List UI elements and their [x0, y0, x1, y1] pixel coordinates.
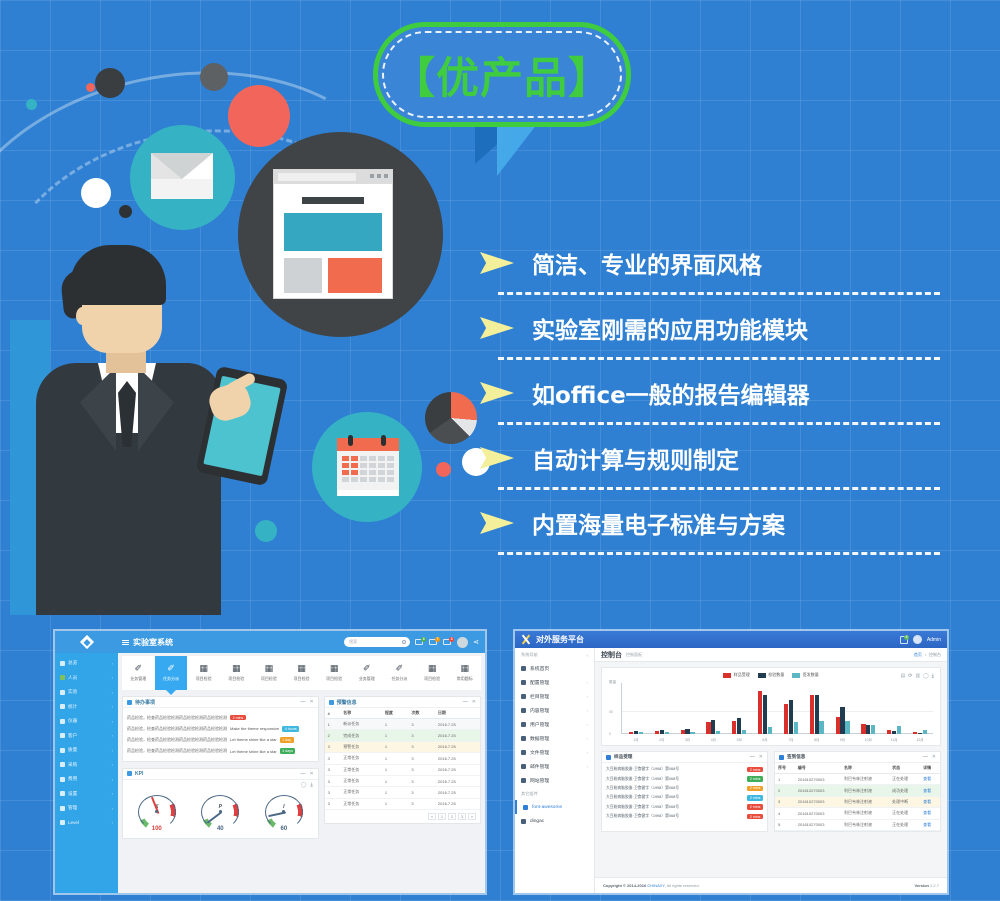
columns-icon	[521, 694, 526, 699]
lab-sidebar: 总览› 人员› 实验› 统计› 仪器› 客户› 质量› 采购› 费用› 设置› …	[55, 653, 118, 893]
detail-link[interactable]: 查看	[920, 819, 940, 830]
lab-topbar-right: 搜索 4 7 3 ⋖	[344, 637, 485, 648]
bar[interactable]	[892, 731, 896, 734]
minus-icon[interactable]: —	[463, 699, 468, 705]
sample-row[interactable]: 大豆粉病脑胶囊·卫食健字（1998）第068号2 mins	[606, 774, 763, 783]
col-name: 名称	[841, 763, 889, 774]
sidebar-item-overview[interactable]: 总览›	[55, 656, 118, 671]
sidebar-item-label: font-awesome	[532, 805, 562, 810]
service-topbar-right: 4 Admin	[900, 635, 941, 644]
bar[interactable]	[629, 732, 633, 734]
kpi-card: KPI —✕ ◯⤓ K	[122, 768, 319, 839]
refresh-icon[interactable]: ⟳	[908, 673, 912, 679]
bar[interactable]	[923, 730, 927, 734]
minus-icon[interactable]: —	[923, 754, 928, 760]
bar[interactable]	[685, 729, 689, 734]
todo-note: Make the theme responsive	[230, 726, 279, 731]
sidebar-item-staff[interactable]: 人员›	[55, 671, 118, 686]
detail-link[interactable]: 查看	[920, 785, 940, 796]
bar-icon[interactable]: ▥	[915, 673, 920, 679]
sidebar-item-columns[interactable]: 栏目管理›	[515, 689, 594, 703]
bar-group	[700, 683, 726, 734]
bar[interactable]	[737, 718, 741, 734]
lab-app: 实验室系统 搜索 4 7 3 ⋖	[55, 631, 485, 893]
feature-label: 内置海量电子标准与方案	[532, 506, 785, 540]
bar[interactable]	[845, 721, 849, 734]
avatar[interactable]	[913, 635, 922, 644]
sample-row[interactable]: 大豆粉病脑胶囊·卫食健字（1998）第068号2 mins	[606, 765, 763, 774]
bell-icon[interactable]: 3	[443, 638, 452, 647]
sidebar-item-label: 配置管理	[530, 679, 549, 686]
bar-group	[855, 683, 881, 734]
close-icon[interactable]: ✕	[309, 771, 313, 777]
download-icon[interactable]: ⤓	[932, 673, 934, 679]
browser-heading-block	[302, 197, 364, 204]
legend-item[interactable]: 检验数量	[758, 672, 785, 678]
x-tick-label: 5月	[726, 737, 752, 742]
decor-dot-dark	[119, 205, 132, 218]
col-detail: 详情	[920, 763, 940, 774]
calendar-grid	[337, 451, 399, 487]
table-row[interactable]: 1新派任务132016.7.25	[325, 719, 480, 730]
sidebar-item-cost[interactable]: 费用›	[55, 772, 118, 787]
edit-icon: ✐	[167, 664, 175, 673]
table-row[interactable]: 3正常任务132016.7.25	[325, 753, 480, 764]
flag-icon[interactable]: 4	[900, 636, 908, 644]
screenshot-service-platform: 对外服务平台 4 Admin 系统导航 ‹ 系统首页 配置管理›	[515, 631, 947, 893]
grid-icon: ▦	[297, 664, 306, 673]
calendar-icon	[337, 438, 399, 496]
sample-row[interactable]: 大豆粉病脑胶囊·卫食健字（1998）第068号2 mins	[606, 793, 763, 802]
sidebar-item-website[interactable]: 网站管理	[515, 773, 594, 787]
bar-group	[675, 683, 701, 734]
page-next[interactable]: »	[468, 813, 476, 820]
sidebar-item-experiment[interactable]: 实验›	[55, 685, 118, 700]
legend-item[interactable]: 签发数量	[792, 672, 819, 678]
bar[interactable]	[897, 726, 901, 734]
detail-link[interactable]: 查看	[920, 796, 940, 807]
quick-action-label: 业务管理	[359, 676, 375, 682]
screenshot-row: 实验室系统 搜索 4 7 3 ⋖	[0, 615, 1000, 901]
service-body: 系统导航 ‹ 系统首页 配置管理› 栏目管理› 内容管理› 用户管理› 数据管理…	[515, 648, 947, 893]
sample-card-body: 大豆粉病脑胶囊·卫食健字（1998）第068号2 mins 大豆粉病脑胶囊·卫食…	[602, 763, 767, 824]
breadcrumb-trail: 首页 / 控制台	[914, 652, 941, 658]
sidebar-item-files[interactable]: 文件管理›	[515, 745, 594, 759]
sidebar-item-settings[interactable]: 设置›	[55, 787, 118, 802]
close-icon[interactable]: ✕	[759, 754, 763, 760]
sidebar-item-level[interactable]: Level›	[55, 816, 118, 831]
bar[interactable]	[768, 727, 772, 734]
lower-card-row: 样品受理 —✕ 大豆粉病脑胶囊·卫食健字（1998）第068号2 mins 大豆…	[601, 751, 941, 832]
quick-action-active[interactable]: ✐任务分派	[155, 656, 188, 690]
sample-text: 大豆粉病脑胶囊·卫食健字（1998）第068号	[606, 795, 744, 800]
arrow-icon	[480, 512, 514, 534]
bar-group	[752, 683, 778, 734]
breadcrumb-current: 控制台	[929, 652, 941, 658]
bar[interactable]	[840, 707, 844, 734]
person-illustration	[10, 245, 290, 615]
sidebar-item-customer[interactable]: 客户›	[55, 729, 118, 744]
edit-icon: ✐	[363, 664, 371, 673]
edit-icon	[60, 704, 65, 709]
kpi-gauges: K 100 P	[123, 788, 318, 838]
legend-item[interactable]: 样品受理	[723, 672, 750, 678]
bar[interactable]	[634, 731, 638, 734]
sidebar-item-content[interactable]: 内容管理›	[515, 703, 594, 717]
table-icon	[779, 755, 784, 760]
close-icon[interactable]: ✕	[932, 754, 936, 760]
search-input[interactable]: 搜索	[344, 637, 410, 647]
chart-card: 样品受理 检验数量 签发数量 ▤⟳ ▥◯⤓ 数量 50	[601, 667, 941, 746]
sidebar-item-users[interactable]: 用户管理›	[515, 717, 594, 731]
todo-item[interactable]: 药品检验，检查药品检验检测药品检验检测药品检验检测Let theme shine…	[127, 746, 314, 757]
quick-action-bar: ✐业务管理 ✐任务分派 ▦项目检验 ▦项目检验 ▦项目检验 ▦项目检验 ▦项目检…	[122, 656, 481, 690]
quick-action[interactable]: ▦常用题标	[448, 656, 481, 690]
sidebar-item-stats[interactable]: 统计›	[55, 700, 118, 715]
todo-text: 药品检验，检查药品检验检测药品检验检测药品检验检测	[127, 748, 227, 754]
table-row[interactable]: 2201610270003利巴韦林注射液成功处理查看	[775, 785, 940, 796]
bar[interactable]	[706, 722, 710, 734]
x-tick-label: 9月	[830, 737, 856, 742]
flag-icon	[523, 805, 528, 810]
sidebar-item-mail[interactable]: 邮件管理›	[515, 759, 594, 773]
x-tick-label: 3月	[675, 737, 701, 742]
y-tick-0: 0	[609, 732, 611, 736]
service-footer: Copyright © 2014-2016 CHINAXY, All right…	[595, 877, 947, 893]
table-row[interactable]: 3正常任务132016.7.25	[325, 764, 480, 775]
table-row[interactable]: 4201610270003利巴韦林注射液正在处理查看	[775, 808, 940, 819]
todo-item[interactable]: 药品检验，检查药品检验检测药品检验检测药品检验检测2 mins	[127, 712, 314, 723]
bar-group	[726, 683, 752, 734]
sample-row[interactable]: 大豆粉病脑胶囊·卫食健字（1998）第068号2 mins	[606, 784, 763, 793]
table-row[interactable]: 5201610270003利巴韦林注射液正在处理查看	[775, 819, 940, 830]
circle-icon[interactable]: ◯	[923, 673, 929, 679]
sidebar-item-font-awesome[interactable]: font-awesome	[515, 800, 594, 814]
browser-mockup	[273, 169, 393, 299]
bar[interactable]	[763, 695, 767, 734]
x-tick-labels: 1月2月3月4月5月6月7月8月9月10月11月12月	[623, 737, 933, 742]
y-tick-50: 50	[609, 710, 613, 714]
quick-action[interactable]: ▦项目检验	[285, 656, 318, 690]
refresh-icon[interactable]: ◯	[301, 782, 307, 788]
minus-icon[interactable]: —	[300, 699, 305, 705]
service-content: 控制台 控制面板 首页 / 控制台 样品受理 检验数量	[595, 648, 947, 893]
version-value: 2.2.7	[930, 883, 939, 888]
sidebar-item-admin[interactable]: 管理›	[55, 801, 118, 816]
quick-action-label: 项目检验	[261, 676, 277, 682]
bar[interactable]	[660, 730, 664, 734]
flask-icon	[60, 690, 65, 695]
quick-action-label: 业务管理	[130, 676, 146, 682]
arrow-icon	[480, 317, 514, 339]
close-icon[interactable]: ✕	[309, 699, 313, 705]
feature-divider	[498, 487, 940, 490]
bar[interactable]	[836, 717, 840, 734]
sample-text: 大豆粉病脑胶囊·卫食健字（1998）第068号	[606, 814, 744, 819]
grid-icon: ▦	[265, 664, 274, 673]
service-topbar: 对外服务平台 4 Admin	[515, 631, 947, 648]
table-row[interactable]: 3201610270003利巴韦林注射液处理中断查看	[775, 796, 940, 807]
sidebar-item-label: dingac	[530, 819, 544, 824]
comment-icon[interactable]: 7	[429, 638, 438, 647]
quick-action[interactable]: ▦项目检验	[318, 656, 351, 690]
todo-item[interactable]: 药品检验，检查药品检验检测药品检验检测药品检验检测Make the theme …	[127, 723, 314, 734]
legend-label: 检验数量	[768, 672, 784, 678]
sidebar-item-label: 用户管理	[530, 721, 549, 728]
sidebar-item-purchase[interactable]: 采购›	[55, 758, 118, 773]
bar[interactable]	[742, 730, 746, 734]
alert-card-title: 预警信息	[337, 699, 357, 706]
feature-divider	[498, 422, 940, 425]
feature-label: 实验室刚需的应用功能模块	[532, 311, 808, 345]
share-icon[interactable]: ⋖	[473, 638, 479, 646]
service-app-title: 对外服务平台	[536, 634, 584, 645]
save-icon[interactable]: ▤	[901, 673, 906, 679]
bar[interactable]	[789, 700, 793, 734]
sidebar-item-label: 管理	[68, 805, 77, 811]
decor-dot-orange-2	[436, 462, 451, 477]
lab-topbar: 实验室系统 搜索 4 7 3 ⋖	[55, 631, 485, 653]
checkin-card-title: 签到信息	[787, 754, 805, 760]
sidebar-item-data[interactable]: 数据管理›	[515, 731, 594, 745]
bar-group	[623, 683, 649, 734]
sidebar-item-label: 内容管理	[530, 707, 549, 714]
x-tick-label: 7月	[778, 737, 804, 742]
table-header-row: # 名称 程度 次数 日期	[325, 708, 480, 719]
lab-main: ✐业务管理 ✐任务分派 ▦项目检验 ▦项目检验 ▦项目检验 ▦项目检验 ▦项目检…	[118, 653, 485, 893]
todo-item[interactable]: 药品检验，检查药品检验检测药品检验检测药品检验检测Let theme shine…	[127, 734, 314, 745]
bar[interactable]	[913, 732, 917, 734]
bar[interactable]	[655, 731, 659, 734]
bar-groups	[623, 683, 933, 734]
quick-action[interactable]: ▦项目检验	[220, 656, 253, 690]
bar[interactable]	[758, 691, 762, 734]
hero-section: 【优产品】 简洁、专业的界面风格 实验室刚需的应用功能模块 如office一般的…	[0, 0, 1000, 615]
download-icon[interactable]: ⤓	[310, 782, 312, 788]
copyright-prefix: Copyright © 2014-2016	[603, 883, 647, 888]
level-icon	[60, 820, 65, 825]
feature-divider	[498, 357, 940, 360]
decor-circle-orange	[228, 85, 290, 147]
minus-icon[interactable]: —	[750, 754, 755, 760]
feature-item: 实验室刚需的应用功能模块	[480, 305, 940, 351]
grid-icon	[60, 806, 65, 811]
legend-label: 签发数量	[803, 672, 819, 678]
x-tick-label: 11月	[881, 737, 907, 742]
search-placeholder: 搜索	[349, 639, 357, 645]
quick-action-label: 项目检验	[196, 676, 212, 682]
sample-text: 大豆粉病脑胶囊·卫食健字（1998）第068号	[606, 777, 744, 782]
home-icon	[60, 661, 65, 666]
arrow-icon	[480, 382, 514, 404]
alert-card-controls: —✕	[463, 699, 476, 705]
bar-group	[649, 683, 675, 734]
sidebar-header-label: 系统导航	[521, 652, 538, 658]
kpi-toolbar: ◯⤓	[123, 780, 318, 788]
users-icon	[521, 722, 526, 727]
alert-card-header: 预警信息 —✕	[325, 697, 480, 708]
col-status: 状态	[889, 763, 920, 774]
todo-card: 待办事项 —✕ 药品检验，检查药品检验检测药品检验检测药品检验检测2 mins …	[122, 696, 319, 762]
sidebar-item-instrument[interactable]: 仪器›	[55, 714, 118, 729]
avatar[interactable]	[457, 637, 468, 648]
sidebar-item-label: 统计	[68, 704, 77, 710]
bar[interactable]	[690, 732, 694, 734]
todo-badge: 4 hours	[282, 726, 299, 732]
bar[interactable]	[681, 730, 685, 734]
sidebar-item-label: 采购	[68, 762, 77, 768]
sidebar-item-home[interactable]: 系统首页	[515, 661, 594, 675]
gauge-i: I 60	[262, 792, 306, 832]
bar[interactable]	[639, 732, 643, 734]
mail-icon[interactable]: 4	[415, 638, 424, 647]
quick-action[interactable]: ▦项目检验	[416, 656, 449, 690]
bar[interactable]	[819, 721, 823, 734]
quick-action-label: 项目检验	[294, 676, 310, 682]
browser-url-bar	[278, 173, 356, 181]
sample-card-title: 样品受理	[614, 754, 632, 760]
quick-action[interactable]: ✐任务分派	[383, 656, 416, 690]
quick-action[interactable]: ▦项目检验	[187, 656, 220, 690]
share-icon	[521, 778, 526, 783]
edit-icon: ✐	[135, 664, 143, 673]
bar[interactable]	[871, 725, 875, 734]
quick-action-label: 常用题标	[457, 676, 473, 682]
bar[interactable]	[887, 730, 891, 734]
sidebar-item-label: 总览	[68, 660, 77, 666]
x-tick-label: 8月	[804, 737, 830, 742]
bar[interactable]	[866, 725, 870, 734]
todo-badge: 3 days	[280, 748, 296, 754]
minus-icon[interactable]: —	[300, 771, 305, 777]
quick-action[interactable]: ✐业务管理	[350, 656, 383, 690]
sample-text: 大豆粉病脑胶囊·卫食健字（1998）第068号	[606, 767, 744, 772]
quick-action[interactable]: ▦项目检验	[253, 656, 286, 690]
bar[interactable]	[810, 695, 814, 734]
x-tick-label: 6月	[752, 737, 778, 742]
feature-label: 如office一般的报告编辑器	[532, 376, 810, 410]
gauge-label: P	[198, 804, 242, 810]
pin-icon	[127, 771, 132, 776]
page-prev[interactable]: «	[428, 813, 436, 820]
bar[interactable]	[861, 724, 865, 734]
table-row[interactable]: 2完成任务132016.7.25	[325, 730, 480, 741]
sidebar-item-label: 人员	[68, 675, 77, 681]
todo-card-controls: —✕	[300, 699, 313, 705]
sidebar-item-label: 费用	[68, 776, 77, 782]
sample-badge: 2 mins	[747, 776, 763, 782]
username-label[interactable]: Admin	[927, 637, 941, 643]
bar-icon	[606, 755, 611, 760]
diamond-icon	[79, 635, 93, 649]
bar[interactable]	[711, 720, 715, 734]
alert-table: # 名称 程度 次数 日期 1新派任务132016.7.25 2完成任务1320…	[325, 708, 480, 810]
badge-frame: 【优产品】	[373, 22, 631, 127]
sample-badge: 2 mins	[747, 795, 763, 801]
quick-action-label: 任务分派	[391, 676, 407, 682]
sample-badge: 2 mins	[747, 767, 763, 773]
badge-title: 【优产品】	[392, 44, 612, 106]
sidebar-header: 系统导航 ‹	[515, 648, 594, 661]
sidebar-item-config[interactable]: 配置管理›	[515, 675, 594, 689]
bar[interactable]	[732, 721, 736, 734]
bar[interactable]	[784, 704, 788, 734]
decor-dot-teal	[26, 99, 37, 110]
bar-group	[907, 683, 933, 734]
sidebar-item-label: 设置	[68, 791, 77, 797]
grid-icon: ▦	[460, 664, 469, 673]
table-icon	[329, 700, 334, 705]
todo-badge: 2 mins	[230, 715, 246, 721]
sidebar-item-label: 数据管理	[530, 735, 549, 742]
col-code: 编号	[795, 763, 841, 774]
gauge-value: 100	[135, 826, 179, 832]
chevron-left-icon[interactable]: ‹	[587, 653, 588, 658]
bar[interactable]	[665, 732, 669, 734]
sample-row[interactable]: 大豆粉病脑胶囊·卫食健字（1998）第068号2 mins	[606, 812, 763, 821]
todo-text: 药品检验，检查药品检验检测药品检验检测药品检验检测	[127, 737, 227, 743]
y-axis-label: 数量	[609, 680, 616, 685]
table-header-row: 序号 编号 名称 状态 详情	[775, 763, 940, 774]
brand-link[interactable]: CHINAXY	[647, 883, 664, 888]
sidebar-item-dingac[interactable]: dingac	[515, 814, 594, 828]
sample-badge: 2 mins	[747, 804, 763, 810]
browser-window-controls	[370, 174, 388, 178]
sidebar-item-label: 实验	[68, 689, 77, 695]
sidebar-item-quality[interactable]: 质量›	[55, 743, 118, 758]
page-2[interactable]: 2	[448, 813, 456, 820]
decor-dot-white	[81, 178, 111, 208]
table-row[interactable]: 3预警任务132016.7.25	[325, 741, 480, 752]
close-icon[interactable]: ✕	[472, 699, 476, 705]
lab-logo[interactable]	[55, 631, 118, 653]
sidebar-item-label: 栏目管理	[530, 693, 549, 700]
table-row[interactable]: 3正常任务132016.7.25	[325, 775, 480, 786]
sidebar-item-label: Level	[68, 820, 79, 825]
page-1[interactable]: 1	[438, 813, 446, 820]
feature-label: 自动计算与规则制定	[532, 441, 739, 475]
bar[interactable]	[815, 695, 819, 734]
hamburger-icon[interactable]	[122, 639, 129, 646]
x-tick-label: 10月	[855, 737, 881, 742]
table-row[interactable]: 1201610270003利巴韦林注射液正在处理查看	[775, 774, 940, 785]
breadcrumb-home[interactable]: 首页	[914, 652, 922, 658]
bar[interactable]	[794, 722, 798, 734]
bar[interactable]	[918, 733, 922, 734]
lab-body: 总览› 人员› 实验› 统计› 仪器› 客户› 质量› 采购› 费用› 设置› …	[55, 653, 485, 893]
table-row[interactable]: 3正常任务132016.7.25	[325, 798, 480, 809]
grid-icon: ▦	[232, 664, 241, 673]
quick-action[interactable]: ✐业务管理	[122, 656, 155, 690]
detail-link[interactable]: 查看	[920, 774, 940, 785]
grid-icon: ▦	[330, 664, 339, 673]
sample-row[interactable]: 大豆粉病脑胶囊·卫食健字（1998）第068号2 mins	[606, 803, 763, 812]
todo-note: Let theme shine like a star	[230, 737, 277, 742]
bar-group	[881, 683, 907, 734]
page-subtitle: 控制面板	[626, 652, 642, 658]
x-tick-label: 4月	[700, 737, 726, 742]
bar[interactable]	[716, 731, 720, 734]
page-3[interactable]: 3	[458, 813, 466, 820]
feature-item: 简洁、专业的界面风格	[480, 240, 940, 286]
grid-icon	[60, 733, 65, 738]
todo-badge: 1 day	[280, 737, 294, 743]
mail-icon	[521, 764, 526, 769]
detail-link[interactable]: 查看	[920, 808, 940, 819]
table-row[interactable]: 3正常任务132016.7.25	[325, 787, 480, 798]
bar-chart: 数量 50 0 1月2月3月4月5月6月7月8月9月10月11月12月	[607, 681, 935, 743]
lab-title-group: 实验室系统	[122, 637, 173, 648]
